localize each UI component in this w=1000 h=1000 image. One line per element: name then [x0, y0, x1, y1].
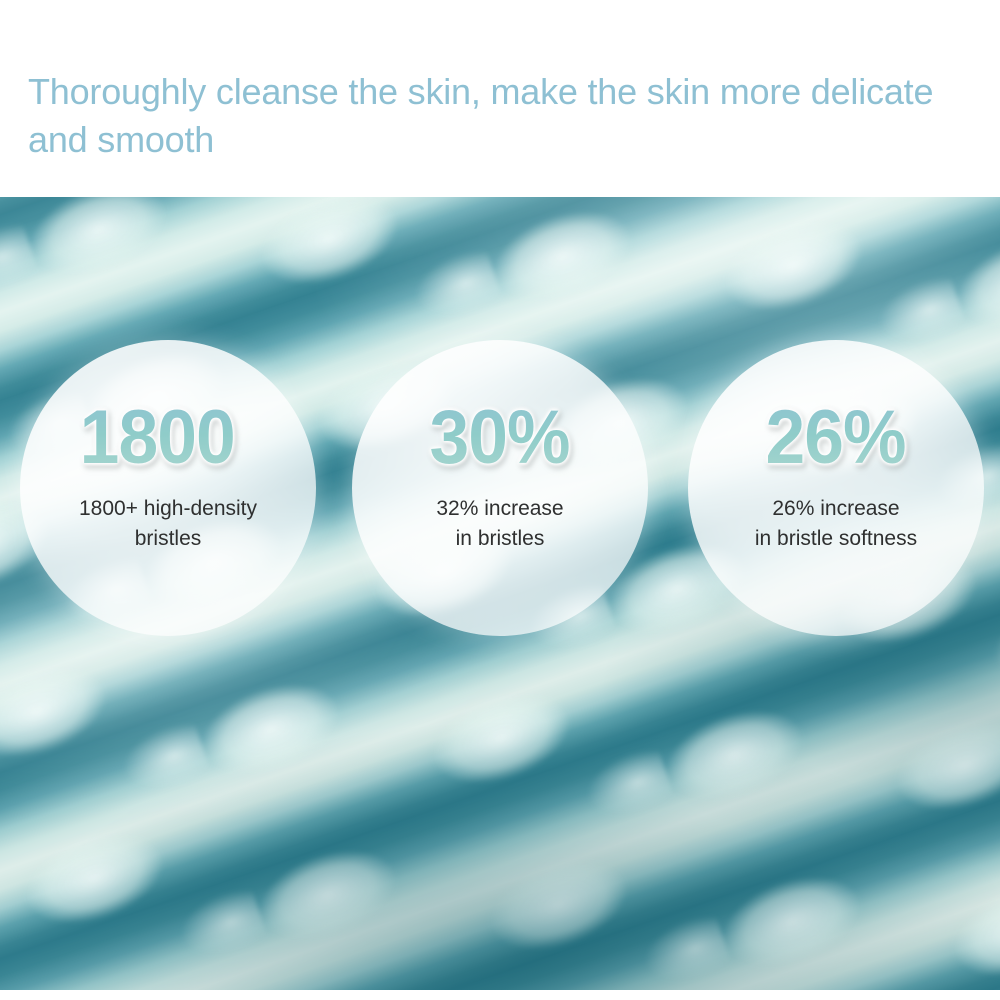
stat-caption-2: 32% increase in bristles	[365, 494, 635, 554]
bottom-white-strip	[0, 990, 1000, 1000]
stat-number-1: 1800+	[79, 398, 256, 478]
header-band: Thoroughly cleanse the skin, make the sk…	[0, 0, 1000, 197]
stat-caption-3: 26% increase in bristle softness	[701, 494, 971, 554]
stat-number-3-value: 26%	[766, 395, 906, 480]
stat-caption-1: 1800+ high-density bristles	[33, 494, 303, 554]
product-feature-banner: Thoroughly cleanse the skin, make the sk…	[0, 0, 1000, 1000]
stat-circle-bristle-increase: 30% 32% increase in bristles	[352, 340, 648, 636]
stat-number-2-value: 30%	[430, 395, 570, 480]
stat-circle-softness-increase: 26% 26% increase in bristle softness	[688, 340, 984, 636]
page-title: Thoroughly cleanse the skin, make the sk…	[28, 68, 984, 164]
stat-circle-group: 1800+ 1800+ high-density bristles 30% 32…	[0, 340, 1000, 640]
stat-number-1-suffix: +	[235, 399, 257, 446]
stat-number-3: 26%	[766, 398, 906, 478]
stat-number-1-value: 1800	[79, 395, 234, 480]
stat-circle-bristle-count: 1800+ 1800+ high-density bristles	[20, 340, 316, 636]
stat-number-2: 30%	[430, 398, 570, 478]
